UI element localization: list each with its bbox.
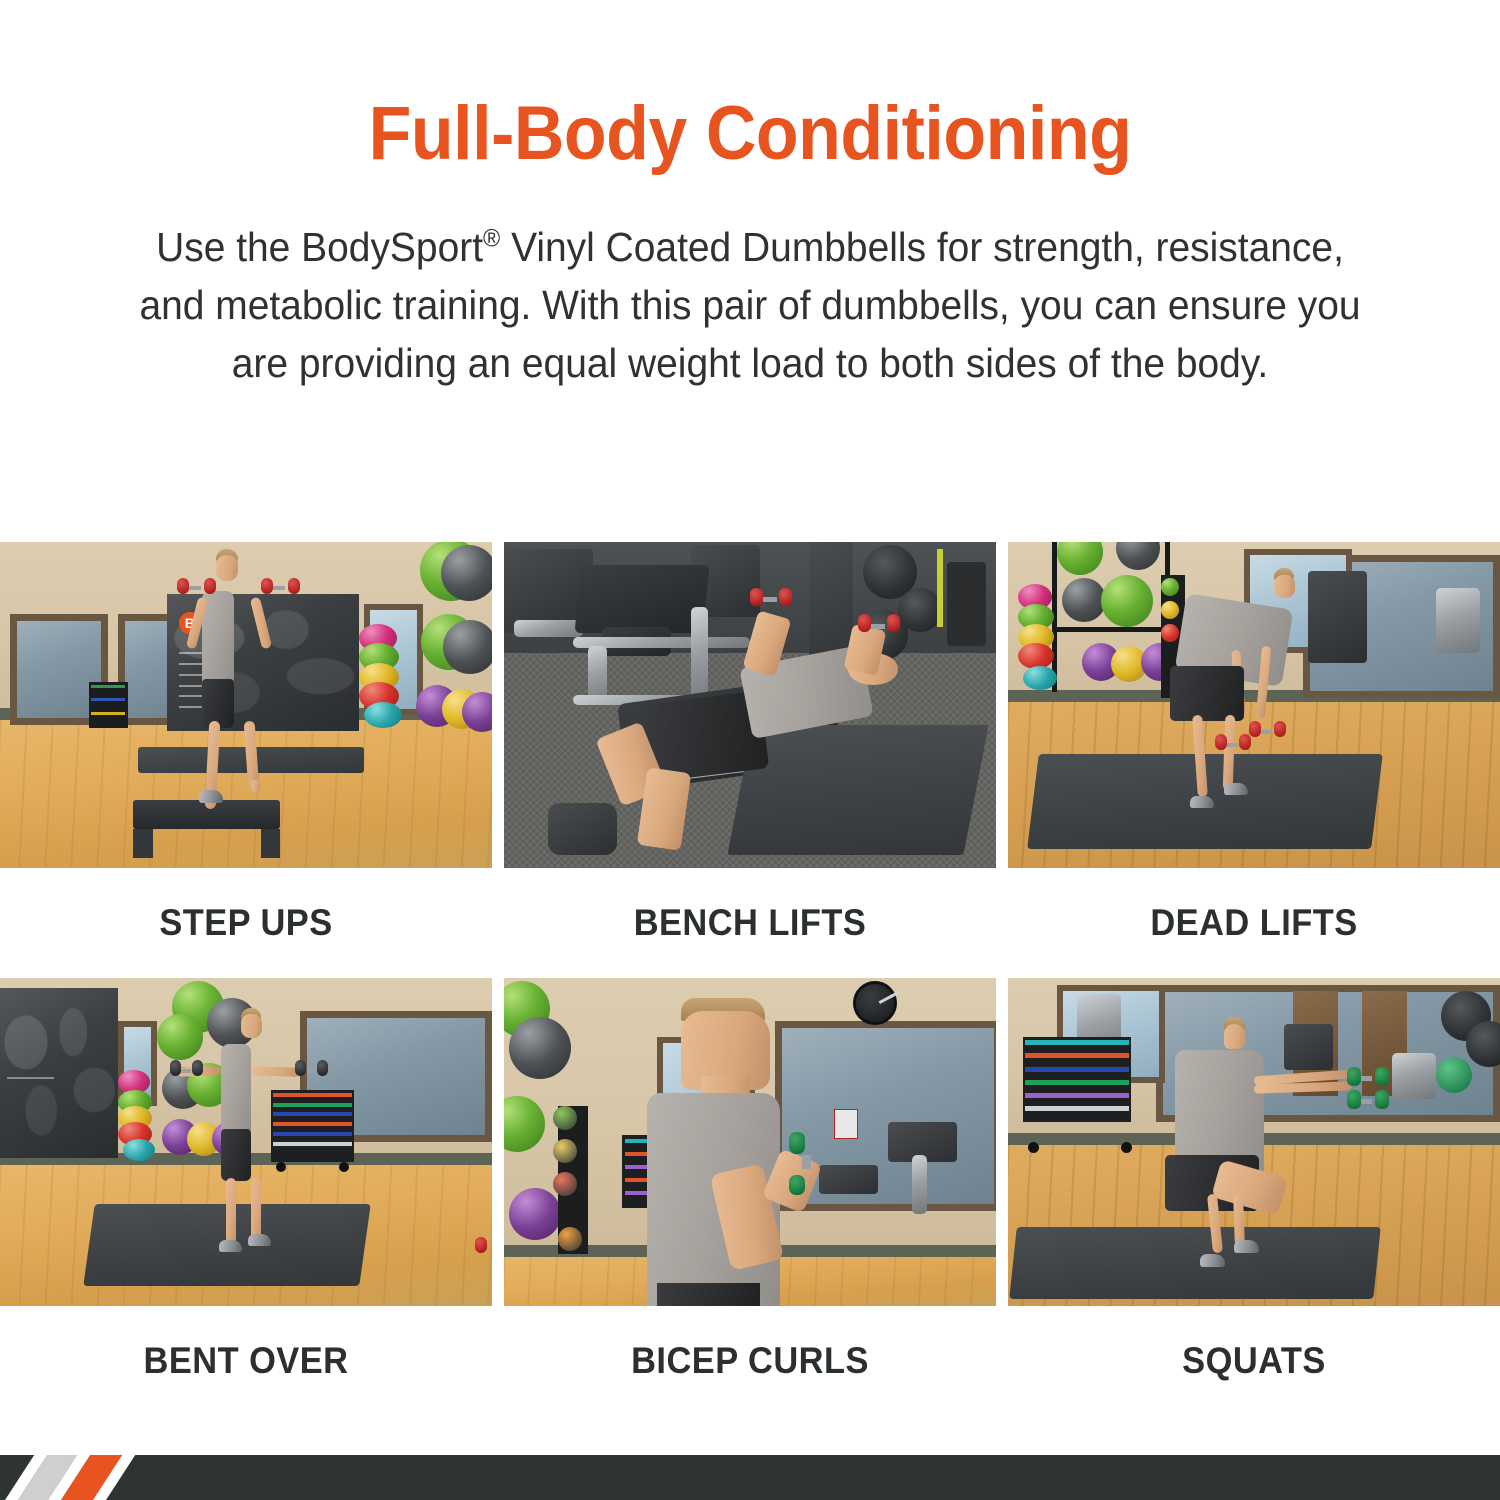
exercise-caption-bicep-curls: BICEP CURLS: [521, 1306, 979, 1416]
intro-text-mid: Vinyl Coated Dumbbells for strength,: [500, 224, 1144, 270]
intro-paragraph: Use the BodySport® Vinyl Coated Dumbbell…: [133, 218, 1368, 393]
exercise-photo-bench-lifts: [504, 542, 996, 868]
exercise-caption-dead-lifts: DEAD LIFTS: [1025, 868, 1483, 978]
exercise-caption-bench-lifts: BENCH LIFTS: [521, 868, 979, 978]
infographic-page: Full-Body Conditioning Use the BodySport…: [0, 0, 1500, 1500]
exercise-cell-bicep-curls: BICEP CURLS: [504, 978, 996, 1416]
exercise-cell-step-ups: B: [0, 542, 492, 978]
exercise-row-2: BENT OVER: [0, 978, 1500, 1416]
registered-trademark-icon: ®: [483, 225, 500, 252]
exercise-photo-dead-lifts: [1008, 542, 1500, 868]
exercise-cell-dead-lifts: DEAD LIFTS: [1008, 542, 1500, 978]
exercise-cell-bent-over: BENT OVER: [0, 978, 492, 1416]
page-title: Full-Body Conditioning: [60, 96, 1440, 172]
exercise-photo-bicep-curls: [504, 978, 996, 1306]
exercise-caption-squats: SQUATS: [1025, 1306, 1483, 1416]
header: Full-Body Conditioning Use the BodySport…: [0, 0, 1500, 393]
exercise-grid: B: [0, 542, 1500, 1416]
exercise-cell-squats: SQUATS: [1008, 978, 1500, 1416]
footer-band: [0, 1455, 1500, 1500]
exercise-photo-squats: [1008, 978, 1500, 1306]
exercise-cell-bench-lifts: BENCH LIFTS: [504, 542, 996, 978]
exercise-caption-step-ups: STEP UPS: [17, 868, 475, 978]
exercise-row-1: B: [0, 542, 1500, 978]
exercise-photo-step-ups: B: [0, 542, 492, 868]
intro-text-lead: Use the BodySport: [156, 224, 483, 270]
exercise-photo-bent-over: [0, 978, 492, 1306]
exercise-caption-bent-over: BENT OVER: [17, 1306, 475, 1416]
